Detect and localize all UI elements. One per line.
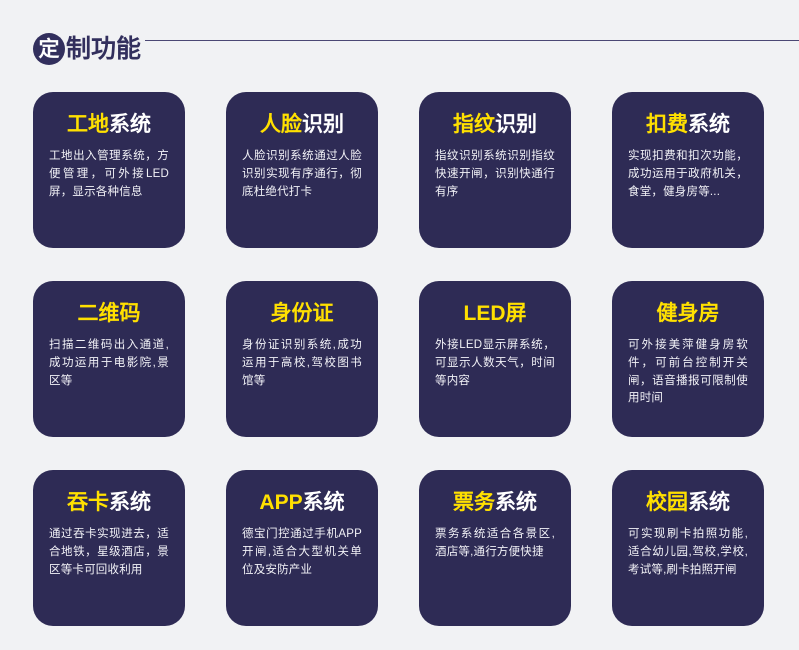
feature-card-title-accent: 人脸 — [260, 113, 302, 136]
feature-card-title-plain: 系统 — [303, 491, 345, 514]
feature-card-description: 通过吞卡实现进去，适合地铁，星级酒店，景区等卡可回收利用 — [49, 526, 169, 579]
feature-card[interactable]: LED屏外接LED显示屏系统，可显示人数天气，时间等内容 — [419, 281, 571, 437]
feature-card-title-accent: LED屏 — [464, 302, 527, 325]
feature-card-title-accent: 扣费 — [646, 113, 688, 136]
feature-card-title-accent: 指纹 — [453, 113, 495, 136]
feature-card-title-plain: 系统 — [109, 113, 151, 136]
feature-card-description: 外接LED显示屏系统，可显示人数天气，时间等内容 — [435, 337, 555, 390]
feature-card[interactable]: 吞卡系统通过吞卡实现进去，适合地铁，星级酒店，景区等卡可回收利用 — [33, 470, 185, 626]
feature-card[interactable]: 二维码扫描二维码出入通道,成功运用于电影院,景区等 — [33, 281, 185, 437]
feature-card-title-accent: 校园 — [646, 491, 688, 514]
feature-card-title-accent: 健身房 — [657, 302, 720, 325]
feature-card[interactable]: 扣费系统实现扣费和扣次功能，成功运用于政府机关，食堂，健身房等... — [612, 92, 764, 248]
feature-card-description: 身份证识别系统,成功运用于高校,驾校图书馆等 — [242, 337, 362, 390]
feature-card-title-accent: APP — [259, 491, 302, 514]
page-root: 定制功能 工地系统工地出入管理系统，方便管理，可外接LED屏，显示各种信息人脸识… — [0, 0, 799, 650]
feature-card-title: 工地系统 — [67, 114, 151, 136]
feature-card-title-accent: 票务 — [453, 491, 495, 514]
feature-card-description: 实现扣费和扣次功能，成功运用于政府机关，食堂，健身房等... — [628, 148, 748, 201]
feature-card-title-plain: 系统 — [495, 491, 537, 514]
feature-card-title-accent: 身份证 — [271, 302, 334, 325]
feature-card-title-plain: 系统 — [688, 113, 730, 136]
feature-card-title-plain: 系统 — [688, 491, 730, 514]
feature-card[interactable]: 人脸识别人脸识别系统通过人脸识别实现有序通行，彻底杜绝代打卡 — [226, 92, 378, 248]
title-badge-icon: 定 — [33, 33, 65, 65]
feature-card-title: 票务系统 — [453, 492, 537, 514]
feature-card-title: 校园系统 — [646, 492, 730, 514]
feature-card[interactable]: 身份证身份证识别系统,成功运用于高校,驾校图书馆等 — [226, 281, 378, 437]
section-header: 定制功能 — [33, 26, 799, 72]
feature-card-description: 扫描二维码出入通道,成功运用于电影院,景区等 — [49, 337, 169, 390]
feature-card-description: 票务系统适合各景区,酒店等,通行方便快捷 — [435, 526, 555, 562]
feature-card[interactable]: 票务系统票务系统适合各景区,酒店等,通行方便快捷 — [419, 470, 571, 626]
feature-card-grid: 工地系统工地出入管理系统，方便管理，可外接LED屏，显示各种信息人脸识别人脸识别… — [33, 92, 766, 626]
feature-card-title: 扣费系统 — [646, 114, 730, 136]
feature-card-title: 指纹识别 — [453, 114, 537, 136]
feature-card-title-accent: 二维码 — [78, 302, 141, 325]
feature-card-title: 身份证 — [271, 303, 334, 325]
feature-card-title: LED屏 — [464, 303, 527, 325]
feature-card-description: 工地出入管理系统，方便管理，可外接LED屏，显示各种信息 — [49, 148, 169, 201]
feature-card-description: 可实现刷卡拍照功能,适合幼儿园,驾校,学校,考试等,刷卡拍照开闸 — [628, 526, 748, 579]
feature-card-title: 人脸识别 — [260, 114, 344, 136]
feature-card-title: 二维码 — [78, 303, 141, 325]
header-divider — [145, 40, 799, 41]
feature-card-title: 吞卡系统 — [67, 492, 151, 514]
feature-card[interactable]: 指纹识别指纹识别系统识别指纹快速开闸，识别快通行有序 — [419, 92, 571, 248]
page-title-text: 制功能 — [66, 37, 141, 62]
page-title: 定制功能 — [33, 33, 141, 65]
feature-card-description: 人脸识别系统通过人脸识别实现有序通行，彻底杜绝代打卡 — [242, 148, 362, 201]
feature-card-title-plain: 识别 — [302, 113, 344, 136]
feature-card-title-plain: 识别 — [495, 113, 537, 136]
feature-card-description: 德宝门控通过手机APP开闸,适合大型机关单位及安防产业 — [242, 526, 362, 579]
feature-card[interactable]: 健身房可外接美萍健身房软件，可前台控制开关闸，语音播报可限制使用时间 — [612, 281, 764, 437]
feature-card-title-accent: 吞卡 — [67, 491, 109, 514]
feature-card[interactable]: 校园系统可实现刷卡拍照功能,适合幼儿园,驾校,学校,考试等,刷卡拍照开闸 — [612, 470, 764, 626]
feature-card-title: APP系统 — [259, 492, 344, 514]
feature-card-title-accent: 工地 — [67, 113, 109, 136]
feature-card-description: 指纹识别系统识别指纹快速开闸，识别快通行有序 — [435, 148, 555, 201]
feature-card-description: 可外接美萍健身房软件，可前台控制开关闸，语音播报可限制使用时间 — [628, 337, 748, 408]
feature-card[interactable]: APP系统德宝门控通过手机APP开闸,适合大型机关单位及安防产业 — [226, 470, 378, 626]
feature-card-title-plain: 系统 — [109, 491, 151, 514]
feature-card-title: 健身房 — [657, 303, 720, 325]
feature-card[interactable]: 工地系统工地出入管理系统，方便管理，可外接LED屏，显示各种信息 — [33, 92, 185, 248]
